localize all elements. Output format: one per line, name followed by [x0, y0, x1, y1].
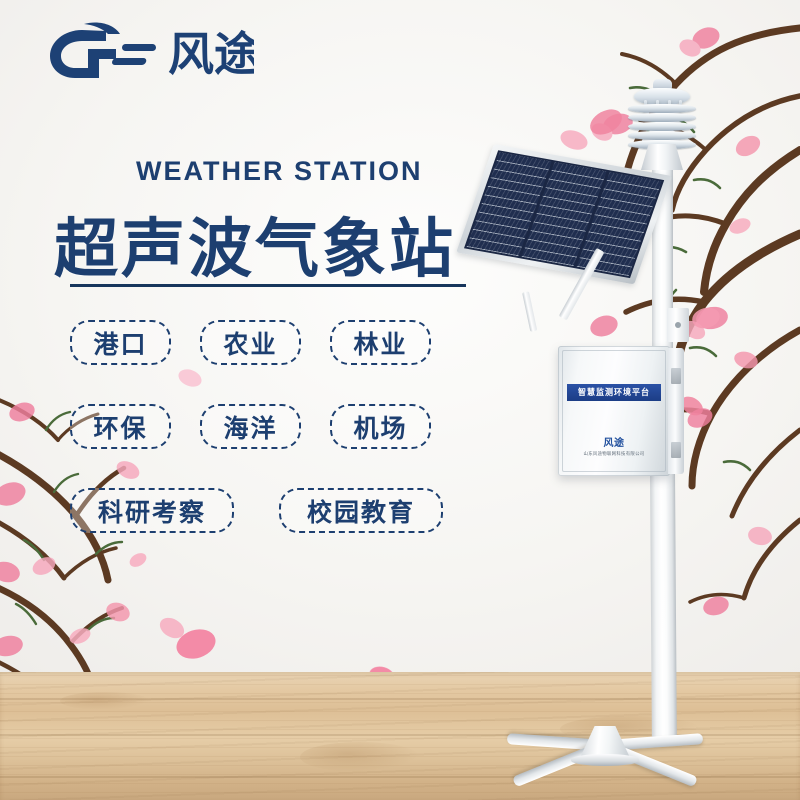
- solar-cell-column: [522, 162, 607, 266]
- tag-chip-ocean[interactable]: 海洋: [200, 404, 301, 449]
- application-tag-list: 港口 农业 林业 环保 海洋 机场 科研考察 校园教育: [70, 320, 500, 533]
- brand-logo[interactable]: 风途: [44, 22, 254, 84]
- solar-panel: [494, 176, 672, 302]
- support-mast-upper: [652, 150, 673, 350]
- shield-disc: [628, 113, 696, 122]
- solar-panel-frame: [456, 144, 672, 284]
- logo-wordmark: 风途: [168, 27, 254, 81]
- radiation-shield: [628, 104, 696, 150]
- wooden-floor: [0, 672, 800, 800]
- ultrasonic-transducer-icon: [634, 78, 690, 108]
- transducer-leg: [679, 100, 682, 112]
- shield-disc: [628, 104, 696, 113]
- page-title: 超声波气象站: [54, 198, 456, 290]
- panel-support-strut: [522, 291, 537, 332]
- tag-chip-forestry[interactable]: 林业: [330, 320, 431, 365]
- solar-cell-column: [467, 152, 552, 256]
- hero-eyebrow: WEATHER STATION: [136, 156, 422, 187]
- transducer-leg: [644, 100, 647, 112]
- panel-support-strut: [559, 248, 605, 321]
- tag-chip-environment[interactable]: 环保: [70, 404, 171, 449]
- control-box-logo-subtitle: 山东风途物联网科技有限公司: [558, 451, 670, 457]
- tag-chip-port[interactable]: 港口: [70, 320, 171, 365]
- floor-knot: [560, 716, 700, 742]
- gf-cloud-logo-icon: 风途: [44, 22, 254, 84]
- floor-knot: [60, 692, 150, 710]
- solar-cell-column: [577, 172, 662, 276]
- tag-chip-education[interactable]: 校园教育: [279, 488, 443, 533]
- transducer-leg: [668, 100, 671, 112]
- mast-bracket: [667, 308, 689, 342]
- tag-row-3: 科研考察 校园教育: [70, 488, 500, 533]
- poster-canvas: 风途 WEATHER STATION 超声波气象站 港口 农业 林业 环保 海洋…: [0, 0, 800, 800]
- tag-row-1: 港口 农业 林业: [70, 320, 500, 365]
- shield-disc: [628, 140, 696, 149]
- sensor-cone: [641, 144, 683, 170]
- control-box-vent: [671, 368, 681, 384]
- control-box-vent: [671, 442, 681, 458]
- title-divider: [70, 284, 466, 287]
- tag-chip-research[interactable]: 科研考察: [70, 488, 234, 533]
- control-box-label-band: 智慧监测环境平台: [567, 384, 661, 401]
- control-box-band-text: 智慧监测环境平台: [578, 387, 650, 399]
- solar-panel-cells: [464, 150, 664, 278]
- bracket-bolt: [675, 322, 681, 328]
- transducer-cap: [634, 88, 690, 105]
- tag-chip-agriculture[interactable]: 农业: [200, 320, 301, 365]
- tag-chip-airport[interactable]: 机场: [330, 404, 431, 449]
- shield-disc: [628, 131, 696, 140]
- control-box-bevel: [562, 350, 666, 472]
- control-box: 智慧监测环境平台 风途 山东风途物联网科技有限公司: [558, 346, 670, 476]
- transducer-leg: [656, 100, 659, 112]
- transducer-nub: [653, 79, 672, 90]
- floor-seam: [0, 776, 800, 778]
- shield-disc: [628, 122, 696, 131]
- control-box-logo-text: 风途: [558, 434, 670, 449]
- floor-knot: [300, 742, 420, 772]
- tag-row-2: 环保 海洋 机场: [70, 404, 500, 449]
- control-box-branding: 风途 山东风途物联网科技有限公司: [558, 434, 670, 457]
- control-box-side-panel: [668, 348, 684, 474]
